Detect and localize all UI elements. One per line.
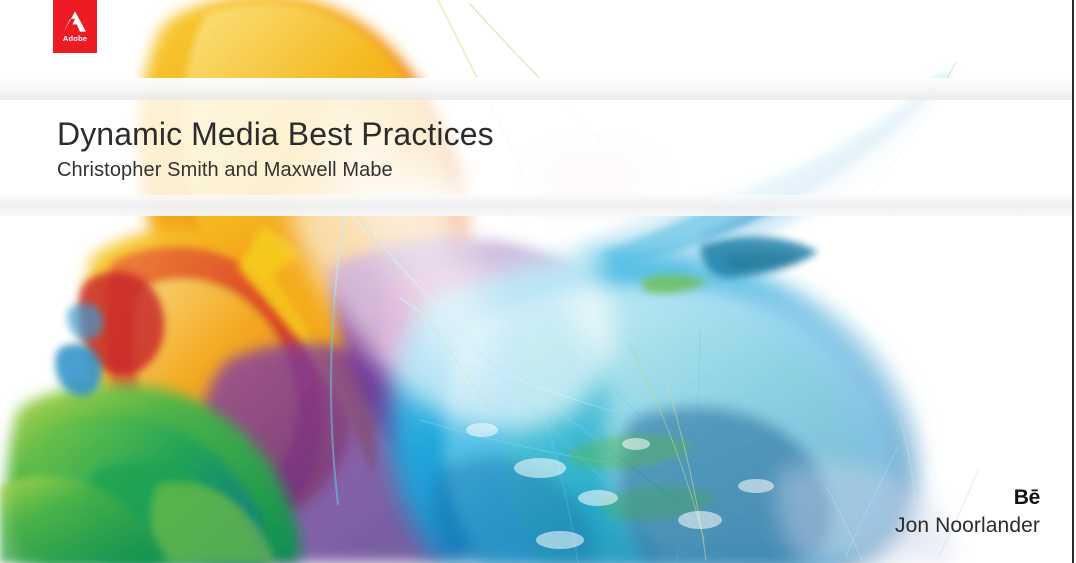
title-block: Dynamic Media Best Practices Christopher… xyxy=(57,118,494,181)
artist-name: Jon Noorlander xyxy=(895,515,1040,536)
adobe-logo: Adobe xyxy=(53,0,97,53)
presentation-slide: Adobe Dynamic Media Best Practices Chris… xyxy=(0,0,1076,563)
presenter-names: Christopher Smith and Maxwell Mabe xyxy=(57,159,494,181)
page-title: Dynamic Media Best Practices xyxy=(57,118,494,152)
adobe-wordmark: Adobe xyxy=(63,35,87,43)
behance-logo-icon: Bē xyxy=(895,487,1040,508)
artwork-credit: Bē Jon Noorlander xyxy=(895,487,1040,536)
adobe-a-logo-icon xyxy=(64,11,86,32)
abstract-mesh-fabric-artwork xyxy=(0,0,1076,563)
